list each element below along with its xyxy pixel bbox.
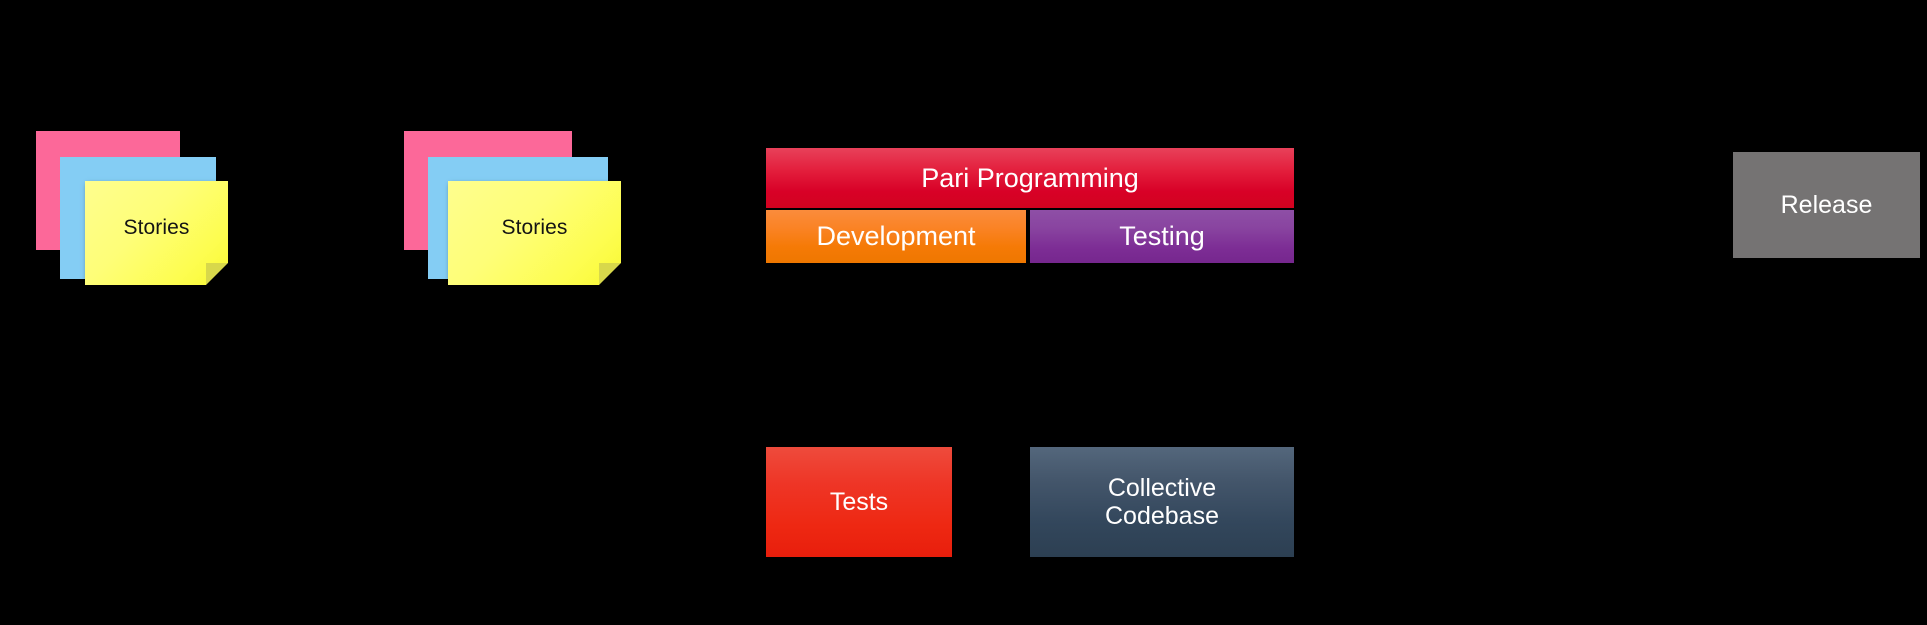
folded-corner-icon [206, 263, 228, 285]
tests-block[interactable]: Tests [766, 447, 952, 557]
diagram-canvas: Stories Stories Pari Programming Develop… [0, 0, 1927, 625]
testing-block[interactable]: Testing [1030, 210, 1294, 263]
tests-label: Tests [830, 488, 888, 516]
release-label: Release [1781, 191, 1873, 219]
yellow-note[interactable]: Stories [85, 181, 228, 285]
development-block[interactable]: Development [766, 210, 1026, 263]
testing-label: Testing [1119, 221, 1205, 251]
collective-codebase-label-line1: Collective [1108, 474, 1216, 502]
release-block[interactable]: Release [1733, 152, 1920, 258]
development-label: Development [816, 221, 975, 251]
collective-codebase-label-line2: Codebase [1105, 502, 1219, 530]
pair-programming-block[interactable]: Pari Programming [766, 148, 1294, 208]
yellow-note[interactable]: Stories [448, 181, 621, 285]
folded-corner-icon [599, 263, 621, 285]
collective-codebase-block[interactable]: Collective Codebase [1030, 447, 1294, 557]
stories-stack-right[interactable]: Stories [404, 131, 634, 291]
stories-note-label: Stories [123, 217, 189, 238]
stories-note-label: Stories [501, 217, 567, 238]
pair-programming-label: Pari Programming [921, 163, 1139, 193]
stories-stack-left[interactable]: Stories [36, 131, 266, 291]
